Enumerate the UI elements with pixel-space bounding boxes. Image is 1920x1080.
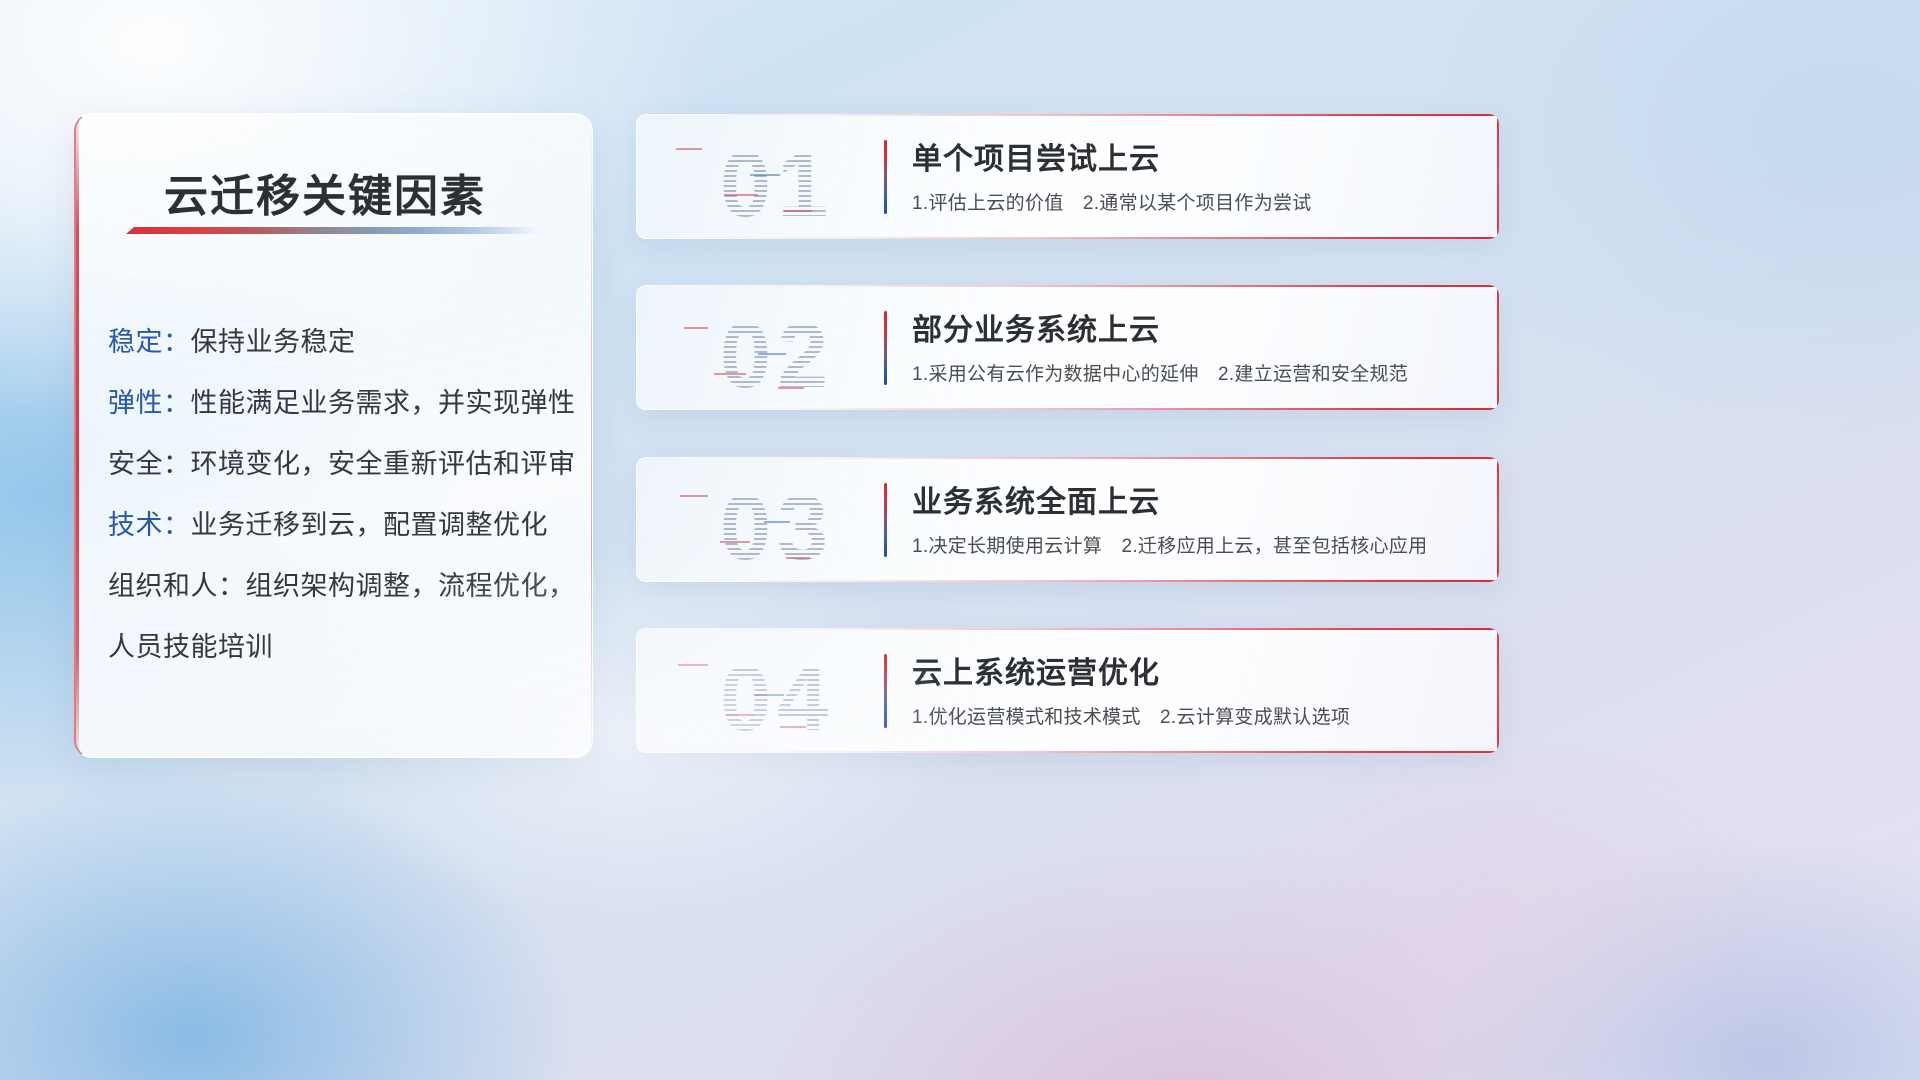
- factor-text: 业务迁移到云，配置调整优化: [191, 510, 549, 540]
- slide-canvas: 云迁移关键因素 稳定：保持业务稳定 弹性：性能满足业务需求，并实现弹性 安全：环…: [0, 0, 1920, 1080]
- step-number: 03: [672, 473, 882, 582]
- page-title: 云迁移关键因素: [164, 160, 486, 224]
- factor-label: 安全：: [108, 449, 191, 479]
- step-title: 云上系统运营优化: [912, 648, 1160, 692]
- step-title: 单个项目尝试上云: [912, 134, 1160, 178]
- list-item: 组织和人：组织架构调整，流程优化，: [108, 556, 570, 617]
- step-number: 02: [672, 301, 882, 410]
- step-divider: [884, 483, 887, 557]
- step-divider: [884, 654, 887, 728]
- card-right-rule: [1497, 114, 1499, 239]
- step-number-graphic: 02: [654, 293, 864, 403]
- list-item: 安全：环境变化，安全重新评估和评审: [108, 434, 570, 495]
- step-number: 01: [672, 130, 882, 239]
- key-factors-panel: 云迁移关键因素 稳定：保持业务稳定 弹性：性能满足业务需求，并实现弹性 安全：环…: [74, 113, 593, 758]
- step-number: 04: [672, 644, 882, 753]
- step-card[interactable]: 01 单个项目尝试上云 1.评估上云的价值 2.通常以某个项目作为尝试: [636, 114, 1499, 239]
- step-divider: [884, 311, 887, 385]
- step-card[interactable]: 04 云上系统运营优化 1.优化运营模式和技术模式 2.云计算变成默认选项: [636, 628, 1499, 753]
- factor-text: 保持业务稳定: [191, 327, 356, 357]
- card-right-rule: [1497, 457, 1499, 582]
- factor-text: 人员技能培训: [108, 632, 273, 662]
- list-item: 弹性：性能满足业务需求，并实现弹性: [108, 373, 570, 434]
- factor-text: 环境变化，安全重新评估和评审: [191, 449, 576, 479]
- step-number-graphic: 01: [654, 122, 864, 232]
- step-number-graphic: 03: [654, 465, 864, 575]
- card-right-rule: [1497, 285, 1499, 410]
- step-subtitle: 1.评估上云的价值 2.通常以某个项目作为尝试: [912, 188, 1312, 215]
- step-divider: [884, 140, 887, 214]
- list-item: 人员技能培训: [108, 617, 570, 678]
- factor-list: 稳定：保持业务稳定 弹性：性能满足业务需求，并实现弹性 安全：环境变化，安全重新…: [108, 312, 570, 678]
- list-item: 技术：业务迁移到云，配置调整优化: [108, 495, 570, 556]
- factor-label: 技术：: [108, 510, 191, 540]
- title-underline-rule: [126, 227, 539, 234]
- card-top-rule: [636, 628, 1499, 630]
- step-subtitle: 1.采用公有云作为数据中心的延伸 2.建立运营和安全规范: [912, 359, 1408, 386]
- step-subtitle: 1.优化运营模式和技术模式 2.云计算变成默认选项: [912, 702, 1350, 729]
- card-right-rule: [1497, 628, 1499, 753]
- card-top-rule: [636, 457, 1499, 459]
- factor-label: 稳定：: [108, 327, 191, 357]
- list-item: 稳定：保持业务稳定: [108, 312, 570, 373]
- step-subtitle: 1.决定长期使用云计算 2.迁移应用上云，甚至包括核心应用: [912, 531, 1427, 558]
- factor-label: 弹性：: [108, 388, 191, 418]
- factor-text: 组织架构调整，流程优化，: [246, 571, 576, 601]
- step-title: 部分业务系统上云: [912, 305, 1160, 349]
- factor-text: 性能满足业务需求，并实现弹性: [191, 388, 576, 418]
- step-card[interactable]: 02 部分业务系统上云 1.采用公有云作为数据中心的延伸 2.建立运营和安全规范: [636, 285, 1499, 410]
- card-top-rule: [636, 285, 1499, 287]
- step-number-graphic: 04: [654, 636, 864, 746]
- card-top-rule: [636, 114, 1499, 116]
- factor-label: 组织和人：: [108, 571, 246, 601]
- step-title: 业务系统全面上云: [912, 477, 1160, 521]
- step-card[interactable]: 03 业务系统全面上云 1.决定长期使用云计算 2.迁移应用上云，甚至包括核心应…: [636, 457, 1499, 582]
